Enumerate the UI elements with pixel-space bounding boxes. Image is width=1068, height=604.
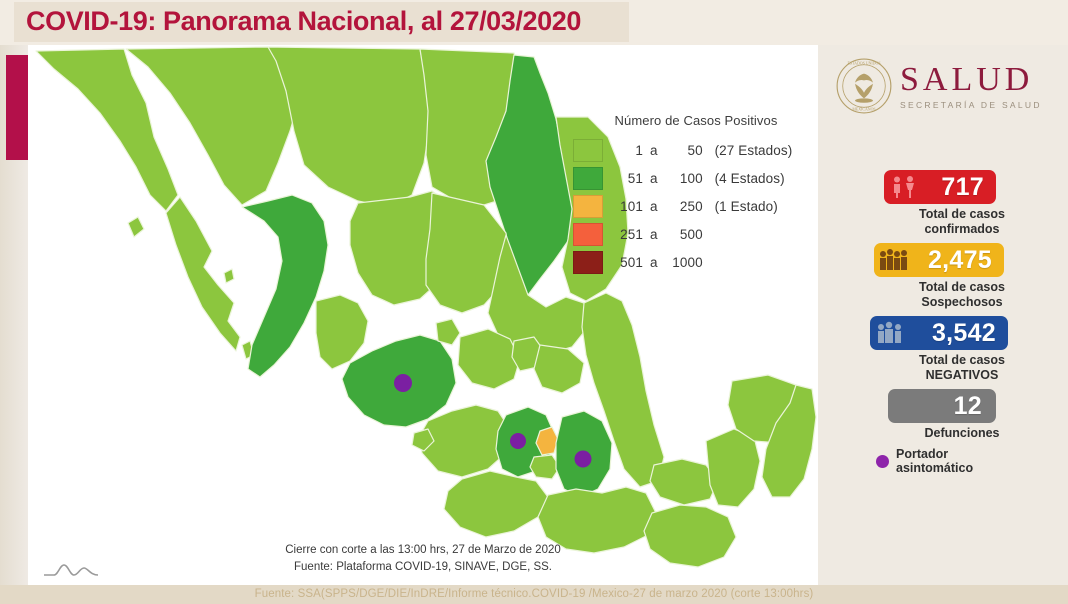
title-band: COVID-19: Panorama Nacional, al 27/03/20… — [0, 0, 1068, 45]
legend-high: 500 — [665, 227, 703, 242]
salud-wordmark: SALUD SECRETARÍA DE SALUD — [900, 63, 1042, 110]
stat-pill-confirmados: 717 — [884, 170, 996, 204]
map-caption: Cierre con corte a las 13:00 hrs, 27 de … — [28, 542, 818, 576]
stat-value-sospechosos: 2,475 — [914, 246, 1004, 275]
legend-low: 101 — [615, 199, 643, 214]
stat-caption-confirmados: Total de casos confirmados — [862, 207, 1062, 237]
legend-swatch — [573, 223, 603, 246]
legend-high: 50 — [665, 143, 703, 158]
map-scale-icon — [42, 557, 102, 579]
carrier-marker-mexico-state — [510, 433, 526, 449]
stat-caption-defunciones: Defunciones — [862, 426, 1062, 441]
legend-row: 251 a 500 — [573, 222, 813, 246]
crowd-icon — [874, 243, 914, 277]
map-panel: .st{stroke:#eaf4d8;stroke-width:1.2;stro… — [28, 45, 818, 585]
legend-conj: a — [647, 171, 661, 186]
legend-label: 1 a 50 (27 Estados) — [615, 143, 792, 158]
stat-pill-negativos: 3,542 — [870, 316, 1008, 350]
stat-block-negativos: 3,542 Total de casos NEGATIVOS — [862, 316, 1062, 383]
statistics-panel: 717 Total de casos confirmados — [862, 170, 1062, 475]
legend-label: 251 a 500 — [615, 227, 715, 242]
legend-swatch — [573, 167, 603, 190]
stat-pill-defunciones: 12 — [888, 389, 996, 423]
stat-caption-negativos: Total de casos NEGATIVOS — [862, 353, 1062, 383]
stat-caption-sospechosos: Total de casos Sospechosos — [862, 280, 1062, 310]
legend-conj: a — [647, 199, 661, 214]
stat-caption-line2: Sospechosos — [862, 295, 1062, 310]
legend-high: 100 — [665, 171, 703, 186]
legend-label: 101 a 250 (1 Estado) — [615, 199, 778, 214]
three-people-icon — [870, 316, 910, 350]
carrier-marker-puebla — [575, 451, 592, 468]
legend-low: 251 — [615, 227, 643, 242]
carrier-legend-label: Portador asintomático — [896, 447, 973, 475]
legend-swatch — [573, 195, 603, 218]
legend-label: 51 a 100 (4 Estados) — [615, 171, 785, 186]
legend-swatch — [573, 251, 603, 274]
mexico-national-seal-icon: ESTADOS UNIDOS MEXICANOS — [836, 58, 892, 114]
carrier-marker-jalisco — [394, 374, 412, 392]
stat-caption-line1: Total de casos — [862, 207, 1062, 222]
stat-value-defunciones: 12 — [888, 392, 996, 421]
stat-caption-line1: Total de casos — [862, 353, 1062, 368]
left-accent-bar — [6, 55, 28, 160]
slide-canvas: COVID-19: Panorama Nacional, al 27/03/20… — [0, 0, 1068, 604]
source-bar: Fuente: SSA(SPPS/DGE/DIE/InDRE/Informe t… — [0, 585, 1068, 604]
salud-brand-header: ESTADOS UNIDOS MEXICANOS SALUD SECRETARÍ… — [836, 56, 1061, 116]
source-bar-text: Fuente: SSA(SPPS/DGE/DIE/InDRE/Informe t… — [0, 585, 1068, 604]
stat-block-defunciones: 12 Defunciones — [862, 389, 1062, 441]
purple-dot-icon — [876, 455, 889, 468]
map-legend: Número de Casos Positivos 1 a 50 (27 Est… — [573, 113, 813, 278]
stat-block-sospechosos: 2,475 Total de casos Sospechosos — [862, 243, 1062, 310]
legend-row: 101 a 250 (1 Estado) — [573, 194, 813, 218]
legend-low: 501 — [615, 255, 643, 270]
caption-cutoff: Cierre con corte a las 13:00 hrs, 27 de … — [28, 542, 818, 559]
legend-high: 1000 — [665, 255, 703, 270]
legend-low: 1 — [615, 143, 643, 158]
stat-caption-line2: confirmados — [862, 222, 1062, 237]
carrier-legend: Portador asintomático — [876, 447, 1062, 475]
salud-title: SALUD — [900, 63, 1042, 97]
legend-count: (27 Estados) — [715, 143, 793, 158]
legend-conj: a — [647, 255, 661, 270]
carrier-label-line1: Portador — [896, 447, 973, 461]
legend-label: 501 a 1000 — [615, 255, 715, 270]
legend-count: (4 Estados) — [715, 171, 785, 186]
stat-caption-line1: Defunciones — [862, 426, 1062, 441]
svg-text:ESTADOS UNIDOS: ESTADOS UNIDOS — [848, 62, 881, 66]
page-title: COVID-19: Panorama Nacional, al 27/03/20… — [26, 6, 581, 37]
legend-count: (1 Estado) — [715, 199, 778, 214]
stat-caption-line2: NEGATIVOS — [862, 368, 1062, 383]
carrier-label-line2: asintomático — [896, 461, 973, 475]
stat-block-confirmados: 717 Total de casos confirmados — [862, 170, 1062, 237]
legend-row: 1 a 50 (27 Estados) — [573, 138, 813, 162]
salud-subtitle: SECRETARÍA DE SALUD — [900, 100, 1042, 110]
caption-source: Fuente: Plataforma COVID-19, SINAVE, DGE… — [28, 559, 818, 576]
legend-conj: a — [647, 227, 661, 242]
legend-low: 51 — [615, 171, 643, 186]
legend-row: 501 a 1000 — [573, 250, 813, 274]
stat-value-confirmados: 717 — [924, 173, 996, 202]
svg-text:MEXICANOS: MEXICANOS — [852, 108, 875, 112]
two-people-icon — [884, 170, 924, 204]
legend-swatch — [573, 139, 603, 162]
legend-high: 250 — [665, 199, 703, 214]
legend-row: 51 a 100 (4 Estados) — [573, 166, 813, 190]
legend-title: Número de Casos Positivos — [579, 113, 813, 128]
stat-caption-line1: Total de casos — [862, 280, 1062, 295]
legend-conj: a — [647, 143, 661, 158]
stat-pill-sospechosos: 2,475 — [874, 243, 1004, 277]
stat-value-negativos: 3,542 — [910, 319, 1008, 348]
